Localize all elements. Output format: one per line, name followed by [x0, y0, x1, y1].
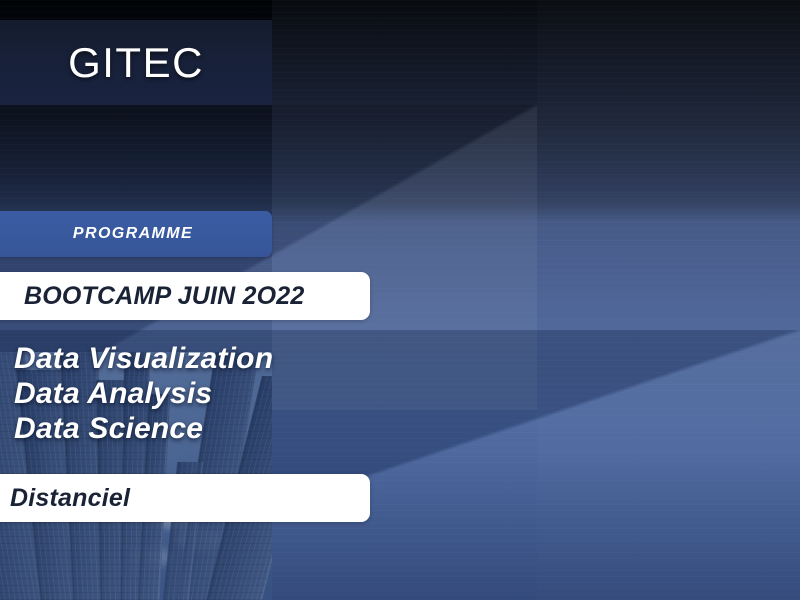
gitec-logo-band: GITEC — [0, 20, 272, 105]
course-item-data-visualization: Data Visualization — [14, 341, 374, 376]
course-item-data-analysis: Data Analysis — [14, 376, 374, 411]
bootcamp-title-pill: BOOTCAMP JUIN 2O22 — [0, 272, 370, 320]
programme-badge-label: PROGRAMME — [73, 225, 193, 243]
course-list: Data Visualization Data Analysis Data Sc… — [14, 341, 374, 446]
programme-badge: PROGRAMME — [0, 211, 272, 257]
course-item-data-science: Data Science — [14, 411, 374, 446]
delivery-mode-pill: Distanciel — [0, 474, 370, 522]
delivery-mode-label: Distanciel — [10, 484, 130, 513]
promo-slide: GITEC PROGRAMME BOOTCAMP JUIN 2O22 Data … — [0, 0, 800, 600]
gitec-logo: GITEC — [68, 42, 204, 84]
bootcamp-title-label: BOOTCAMP JUIN 2O22 — [24, 282, 305, 311]
